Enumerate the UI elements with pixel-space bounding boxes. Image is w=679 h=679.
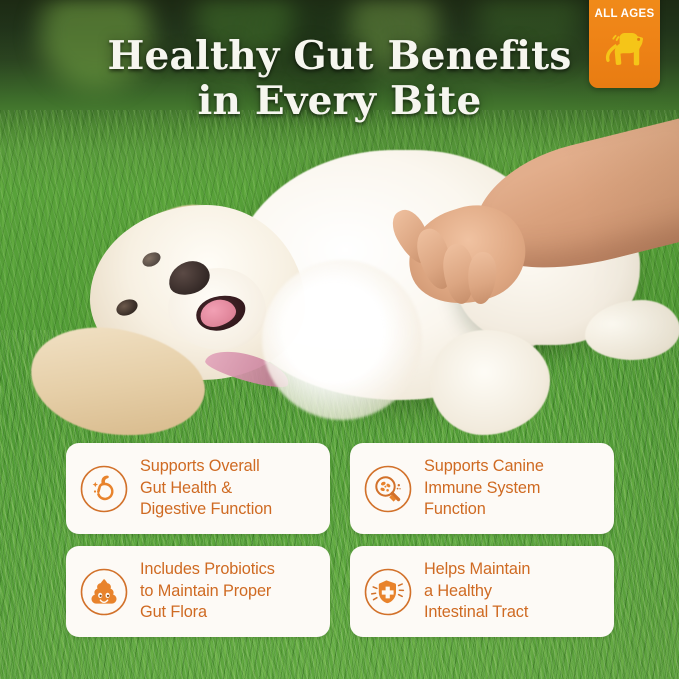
benefit-card-intestinal-tract[interactable]: Helps Maintain a Healthy Intestinal Trac…: [350, 546, 614, 637]
all-ages-badge: ALL AGES: [589, 0, 660, 88]
probiotic-poop-icon: [78, 566, 130, 618]
benefit-line: Gut Flora: [140, 603, 207, 621]
magnifier-germs-icon: [362, 463, 414, 515]
benefit-line: Digestive Function: [140, 500, 272, 518]
benefit-line: Includes Probiotics: [140, 560, 275, 578]
headline-line-2: in Every Bite: [70, 79, 609, 124]
benefit-line: Supports Canine: [424, 457, 544, 475]
dog-chest-fur: [262, 260, 422, 420]
benefit-line: Function: [424, 500, 486, 518]
page-title: Healthy Gut Benefits in Every Bite: [0, 34, 679, 124]
shield-plus-icon: [362, 566, 414, 618]
headline-line-1: Healthy Gut Benefits: [107, 33, 571, 79]
stomach-icon: [78, 463, 130, 515]
benefit-card-text: Supports Overall Gut Health & Digestive …: [140, 456, 272, 521]
benefit-card-text: Helps Maintain a Healthy Intestinal Trac…: [424, 559, 530, 624]
benefit-line: Gut Health &: [140, 479, 232, 497]
benefit-line: Helps Maintain: [424, 560, 530, 578]
sitting-dog-icon: [602, 25, 648, 80]
dog-leg: [430, 330, 550, 435]
benefit-line: Immune System: [424, 479, 540, 497]
benefit-line: a Healthy: [424, 582, 492, 600]
benefit-line: Intestinal Tract: [424, 603, 528, 621]
product-benefits-poster: Healthy Gut Benefits in Every Bite ALL A…: [0, 0, 679, 679]
benefit-card-immune-system[interactable]: Supports Canine Immune System Function: [350, 443, 614, 534]
benefit-card-text: Includes Probiotics to Maintain Proper G…: [140, 559, 275, 624]
benefit-line: to Maintain Proper: [140, 582, 271, 600]
all-ages-label: ALL AGES: [595, 7, 655, 21]
benefit-card-gut-health[interactable]: Supports Overall Gut Health & Digestive …: [66, 443, 330, 534]
benefit-card-grid: Supports Overall Gut Health & Digestive …: [66, 443, 614, 637]
benefit-line: Supports Overall: [140, 457, 260, 475]
benefit-card-text: Supports Canine Immune System Function: [424, 456, 544, 521]
benefit-card-probiotics[interactable]: Includes Probiotics to Maintain Proper G…: [66, 546, 330, 637]
